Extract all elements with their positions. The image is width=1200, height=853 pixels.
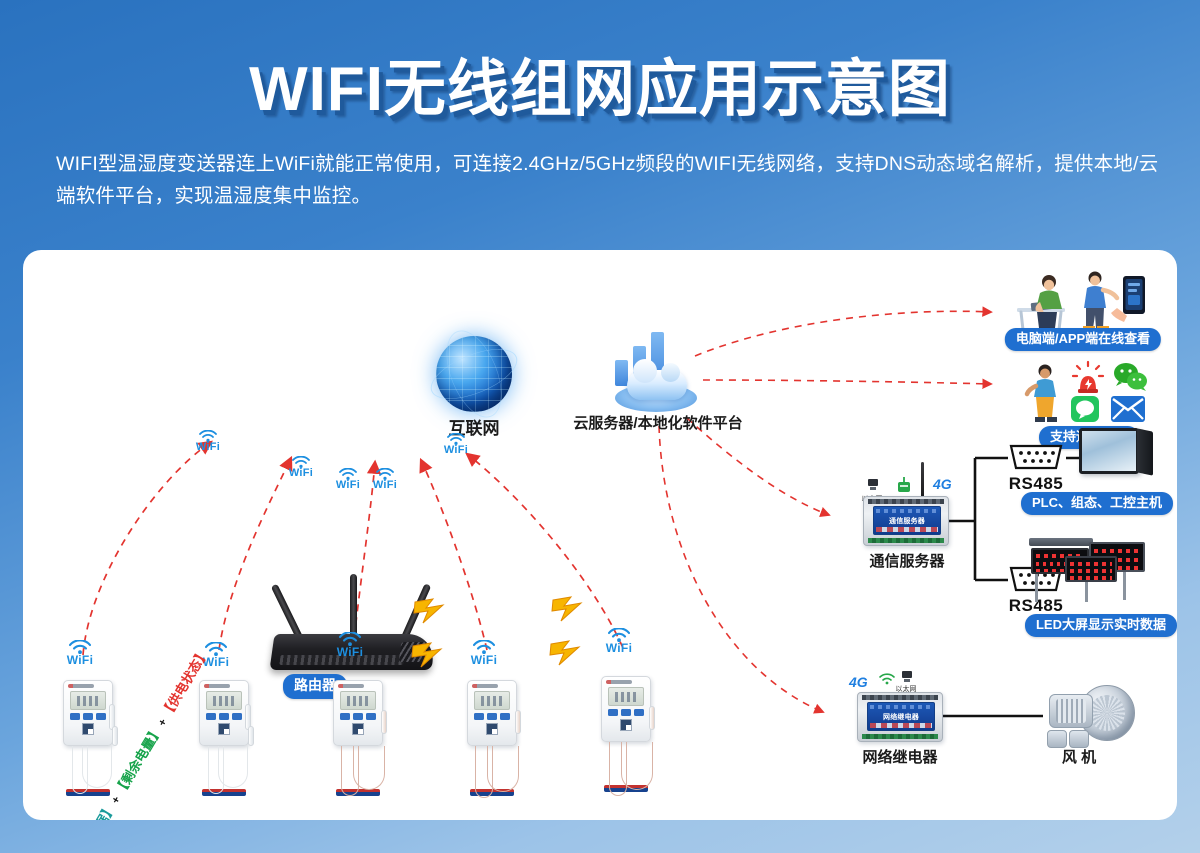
- sensor-probe-2: [248, 726, 254, 746]
- relay-top-terminals: [862, 695, 938, 700]
- comm-server-screen-text: 通信服务器: [874, 516, 940, 526]
- sensor-cable-2: [487, 746, 519, 792]
- plc-monitor: [1079, 428, 1155, 480]
- relay-label: 网络继电器: [862, 746, 937, 767]
- relay-screen: 网络继电器: [867, 702, 935, 731]
- wifi-label: WiFi: [57, 653, 103, 667]
- wifi-mark-2: WiFi: [278, 456, 324, 479]
- sensor-brand-mark: [472, 684, 498, 688]
- sensor-cable-2: [621, 742, 653, 790]
- sensor-buttons: [608, 709, 644, 716]
- connection-lines: [23, 250, 1177, 820]
- rs485-connector-top: [1007, 442, 1065, 477]
- led-panel-front: [1065, 556, 1117, 582]
- sensor-cable-2: [218, 746, 248, 788]
- wifi-label: WiFi: [278, 467, 324, 479]
- sensor-qr-code: [352, 723, 364, 735]
- sensor-qr-code: [82, 723, 94, 735]
- wifi-mark-sensor-3: WiFi: [327, 632, 373, 659]
- cloud-shape: [627, 370, 687, 400]
- sensor-lcd-display: [70, 691, 106, 710]
- sensor-lcd-display: [608, 687, 644, 706]
- alarm-siren-icon: [1071, 360, 1105, 399]
- comm-server-device: 通信服务器: [863, 496, 949, 546]
- wifi-mark-sensor-5: WiFi: [596, 628, 642, 655]
- sensor-brand-mark: [204, 684, 230, 688]
- relay-screen-text: 网络继电器: [868, 712, 934, 722]
- badge-plc: PLC、组态、工控主机: [1021, 492, 1173, 515]
- led-board-leg-3: [1123, 572, 1126, 600]
- comm-4g-mark: 4G: [933, 476, 952, 492]
- plc-monitor-screen: [1079, 428, 1139, 474]
- wifi-label: WiFi: [185, 441, 231, 453]
- sensor-qr-code: [218, 723, 230, 735]
- plc-monitor-side: [1137, 428, 1153, 475]
- wifi-label: WiFi: [362, 479, 408, 491]
- fan-motor: [1049, 694, 1093, 728]
- sensor-qr-code: [486, 723, 498, 735]
- sensor-lcd-display: [206, 691, 242, 710]
- sensor-brand-mark: [68, 684, 94, 688]
- page-title: WIFI无线组网应用示意图: [0, 38, 1200, 128]
- pc-app-scene: [1011, 268, 1157, 334]
- sensor-cable-2: [353, 746, 385, 790]
- sensor-buttons: [70, 713, 106, 720]
- diagram-card: 路由器 互联网 云服务器/本地化软件平台 WiFi WiFi WiFi: [23, 250, 1177, 820]
- sms-icon: [1071, 396, 1099, 422]
- comm-server-label: 通信服务器: [869, 550, 944, 571]
- wifi-label: WiFi: [433, 444, 479, 456]
- relay-bottom-terminals: [862, 734, 938, 739]
- wifi-label: WiFi: [596, 641, 642, 655]
- fan-device: [1043, 682, 1135, 748]
- sensor-lcd-display: [474, 691, 510, 710]
- sensor-device-2: [199, 680, 257, 800]
- sensor-device-1: [63, 680, 121, 800]
- wifi-mark-4: WiFi: [362, 468, 408, 491]
- sensor-device-3: [333, 680, 391, 800]
- wechat-icon: [1113, 361, 1149, 398]
- sensor-device-4: [467, 680, 525, 800]
- led-board-roof: [1029, 538, 1093, 546]
- sensor-probe-2: [112, 726, 118, 746]
- wifi-mark-sensor-1: WiFi: [57, 640, 103, 667]
- sensor-buttons: [206, 713, 242, 720]
- person-alert-illustration: [1023, 362, 1067, 429]
- internet-globe: [428, 328, 520, 420]
- sensor-cable-2: [82, 746, 112, 788]
- sensor-probe-1: [515, 710, 521, 734]
- badge-led-screen: LED大屏显示实时数据: [1025, 614, 1177, 637]
- badge-pc-app-view: 电脑端/APP端在线查看: [1005, 328, 1161, 351]
- led-display-board: [1029, 538, 1149, 602]
- ethernet-icon: [865, 478, 881, 497]
- cloud-server-icon: [601, 324, 709, 416]
- relay-4g-mark: 4G: [849, 674, 868, 690]
- comm-server-bottom-terminals: [868, 538, 944, 543]
- cloud-bar-1: [615, 360, 628, 386]
- wifi-mark-sensor-4: WiFi: [461, 640, 507, 667]
- email-icon: [1111, 396, 1145, 422]
- cloud-server-label: 云服务器/本地化软件平台: [573, 412, 742, 433]
- sensor-probe-1: [649, 706, 655, 730]
- remote-alarm-scene: [1023, 360, 1163, 424]
- comm-server-top-terminals: [868, 499, 944, 504]
- diagram-canvas: 路由器 互联网 云服务器/本地化软件平台 WiFi WiFi WiFi: [23, 250, 1177, 820]
- sensor-device-5: [601, 676, 659, 796]
- led-board-leg-left: [1035, 574, 1038, 602]
- sensor-buttons: [340, 713, 376, 720]
- sensor-lcd-display: [340, 691, 376, 710]
- wifi-mark-5: WiFi: [433, 433, 479, 456]
- rs485-label-top: RS485: [1009, 474, 1063, 494]
- wifi-label: WiFi: [327, 645, 373, 659]
- comm-server-screen: 通信服务器: [873, 506, 941, 535]
- sensor-buttons: [474, 713, 510, 720]
- sensor-brand-mark: [606, 680, 632, 684]
- wifi-label: WiFi: [461, 653, 507, 667]
- fan-label: 风 机: [1062, 746, 1096, 767]
- sensor-brand-mark: [338, 684, 364, 688]
- sensor-probe-1: [381, 710, 387, 734]
- network-relay-device: 网络继电器: [857, 692, 943, 742]
- sensor-qr-code: [620, 719, 632, 731]
- page-header: WIFI无线组网应用示意图 WIFI型温湿度变送器连上WiFi就能正常使用，可连…: [0, 0, 1200, 250]
- wifi-mark-1: WiFi: [185, 430, 231, 453]
- page-subtitle: WIFI型温湿度变送器连上WiFi就能正常使用，可连接2.4GHz/5GHz频段…: [56, 148, 1166, 212]
